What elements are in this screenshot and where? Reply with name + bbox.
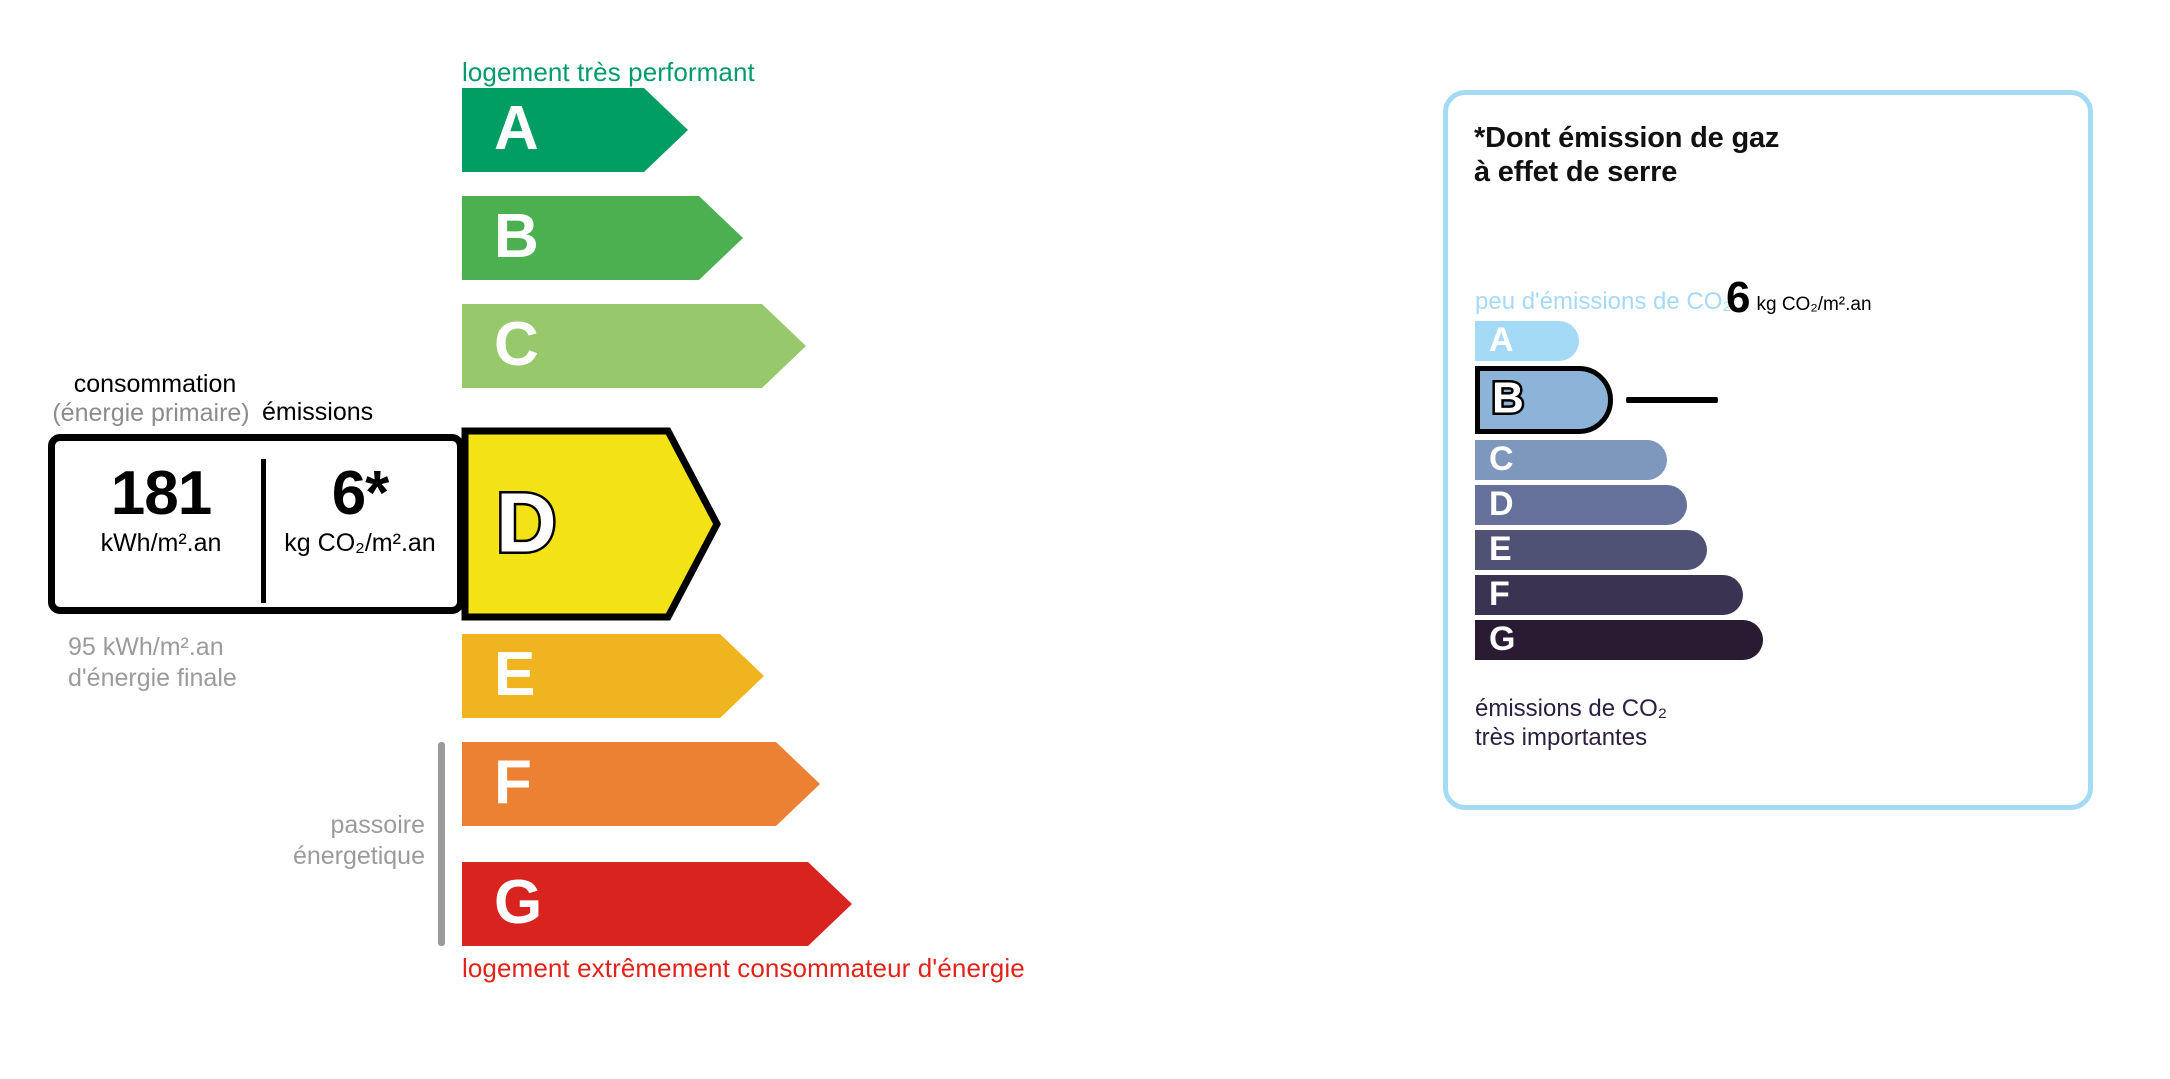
- co2-row-d[interactable]: D: [1475, 485, 1687, 525]
- co2-title-line1: *Dont émission de gaz: [1474, 121, 1779, 155]
- energy-letter-e: E: [494, 644, 535, 706]
- co2-letter-g: G: [1489, 622, 1515, 656]
- consumption-label-title: consommation: [74, 370, 237, 398]
- energy-row-d[interactable]: D: [462, 428, 720, 620]
- co2-letter-e: E: [1489, 532, 1512, 566]
- consumption-value-cell: 181 kWh/m².an: [61, 461, 261, 558]
- consumption-unit: kWh/m².an: [61, 528, 261, 558]
- co2-row-f[interactable]: F: [1475, 575, 1743, 615]
- energy-row-b[interactable]: B: [462, 196, 743, 280]
- co2-letter-f: F: [1489, 577, 1510, 611]
- energy-letter-f: F: [494, 752, 532, 814]
- co2-row-e[interactable]: E: [1475, 530, 1707, 570]
- final-energy-line1: 95 kWh/m².an: [68, 632, 237, 663]
- final-energy-label: 95 kWh/m².an d'énergie finale: [68, 632, 237, 693]
- co2-row-c[interactable]: C: [1475, 440, 1667, 480]
- co2-letter-b: B: [1492, 377, 1524, 421]
- final-energy-line2: d'énergie finale: [68, 663, 237, 694]
- co2-callout-unit: kg CO₂/m².an: [1756, 294, 1871, 315]
- passoire-line2: énergetique: [250, 841, 425, 872]
- energy-letter-d: D: [496, 480, 557, 564]
- consumption-label: consommation (énergie primaire): [60, 370, 250, 428]
- co2-letter-d: D: [1489, 487, 1514, 521]
- co2-letter-a: A: [1489, 323, 1514, 357]
- co2-emissions-panel: *Dont émission de gaz à effet de serre p…: [1443, 90, 2093, 810]
- co2-bottom-line1: émissions de CO₂: [1475, 695, 1667, 724]
- co2-leader-line: [1626, 397, 1718, 403]
- passoire-line1: passoire: [250, 810, 425, 841]
- energy-performance-chart: logement très performant A B C D E: [0, 0, 1400, 1079]
- energy-row-g[interactable]: G: [462, 862, 852, 946]
- co2-row-b[interactable]: B: [1475, 366, 1613, 434]
- co2-bottom-line2: très importantes: [1475, 724, 1667, 753]
- passoire-label: passoire énergetique: [250, 810, 425, 871]
- consumption-value: 181: [61, 461, 261, 526]
- co2-panel-title: *Dont émission de gaz à effet de serre: [1474, 121, 1779, 189]
- energy-row-e[interactable]: E: [462, 634, 764, 718]
- value-box: 181 kWh/m².an 6* kg CO₂/m².an: [48, 434, 464, 614]
- emissions-label: émissions: [262, 398, 373, 427]
- energy-bottom-caption: logement extrêmement consommateur d'éner…: [462, 953, 1025, 984]
- energy-letter-b: B: [494, 206, 539, 268]
- passoire-bracket: [438, 742, 445, 946]
- energy-row-f[interactable]: F: [462, 742, 820, 826]
- co2-bottom-caption: émissions de CO₂ très importantes: [1475, 695, 1667, 753]
- emissions-value-cell: 6* kg CO₂/m².an: [263, 461, 457, 558]
- consumption-label-sub: (énergie primaire): [52, 399, 250, 428]
- co2-row-a[interactable]: A: [1475, 321, 1579, 361]
- energy-letter-c: C: [494, 314, 539, 376]
- co2-callout-value: 6: [1726, 273, 1750, 322]
- energy-row-a[interactable]: A: [462, 88, 688, 172]
- co2-callout: 6kg CO₂/m².an: [1726, 273, 1872, 323]
- co2-top-caption: peu d'émissions de CO₂: [1475, 288, 1732, 316]
- energy-row-c[interactable]: C: [462, 304, 806, 388]
- energy-top-caption: logement très performant: [462, 57, 755, 88]
- energy-letter-g: G: [494, 872, 542, 934]
- co2-letter-c: C: [1489, 442, 1514, 476]
- co2-title-line2: à effet de serre: [1474, 155, 1779, 189]
- co2-row-g[interactable]: G: [1475, 620, 1763, 660]
- emissions-unit: kg CO₂/m².an: [263, 528, 457, 558]
- energy-letter-a: A: [494, 98, 539, 160]
- emissions-value: 6*: [263, 461, 457, 526]
